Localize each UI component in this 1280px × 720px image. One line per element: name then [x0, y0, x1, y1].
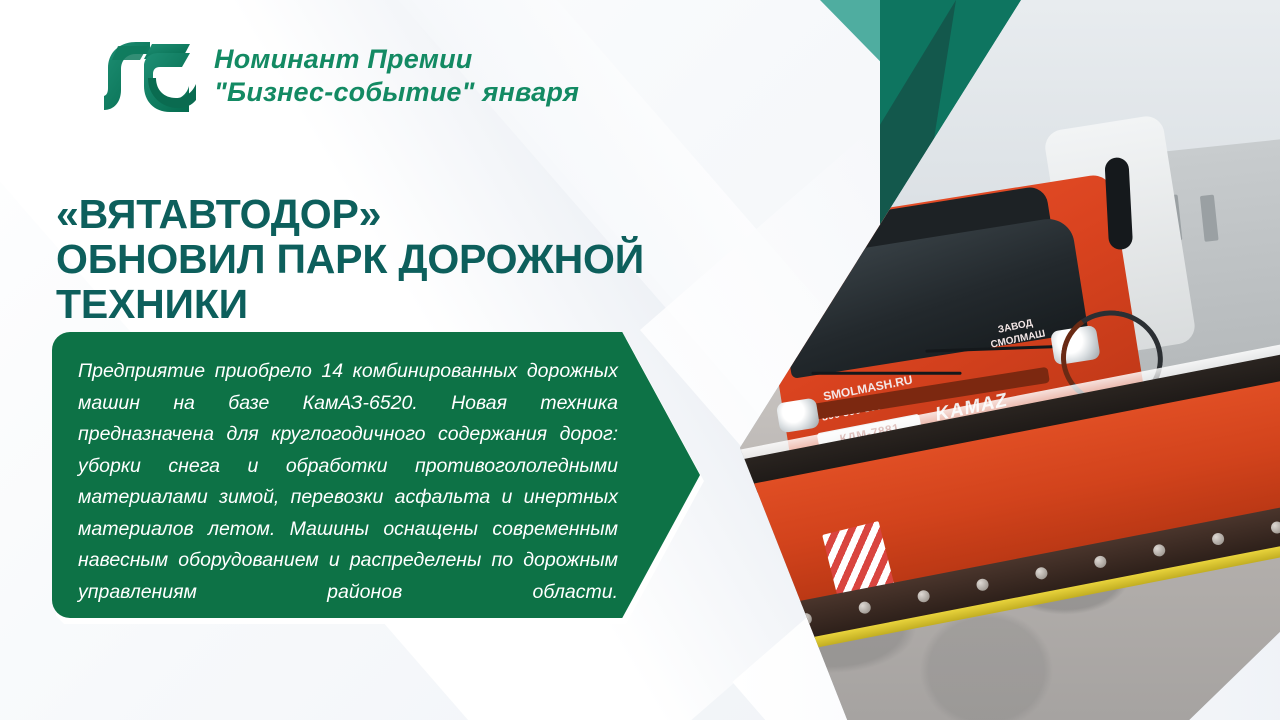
truck-windshield — [774, 215, 1089, 378]
body-card-fill: Предприятие приобрело 14 комбинированных… — [52, 332, 700, 618]
plow-bolt — [1152, 543, 1166, 557]
body-card: Предприятие приобрело 14 комбинированных… — [52, 332, 712, 622]
plow-bolt — [858, 601, 872, 615]
page-title: «ВЯТАВТОДОР» ОБНОВИЛ ПАРК ДОРОЖНОЙ ТЕХНИ… — [56, 192, 736, 327]
header-title: Номинант Премии "Бизнес-событие" января — [214, 43, 579, 110]
truck-photo: SMOLMASH.RU 8 800 500 800 4 КДМ-7881 KAM… — [740, 0, 1280, 720]
poster-canvas: SMOLMASH.RU 8 800 500 800 4 КДМ-7881 KAM… — [0, 0, 1280, 720]
truck-wiper — [812, 372, 962, 375]
plow-bolt — [1270, 520, 1280, 534]
truck-headlight-left — [776, 397, 820, 433]
plow-bolt — [1034, 566, 1048, 580]
plow-bolt — [917, 589, 931, 603]
photo-inner: SMOLMASH.RU 8 800 500 800 4 КДМ-7881 KAM… — [740, 0, 1280, 720]
plow-bolt — [1093, 555, 1107, 569]
plow-bolt — [975, 578, 989, 592]
truck-mirror — [1104, 157, 1133, 250]
building-window — [1200, 194, 1219, 241]
plow-bolt — [799, 612, 813, 626]
plow-bolt — [1211, 532, 1225, 546]
body-card-text: Предприятие приобрело 14 комбинированных… — [78, 356, 618, 640]
gs-monogram-logo-icon — [100, 38, 196, 114]
header: Номинант Премии "Бизнес-событие" января — [100, 38, 579, 114]
